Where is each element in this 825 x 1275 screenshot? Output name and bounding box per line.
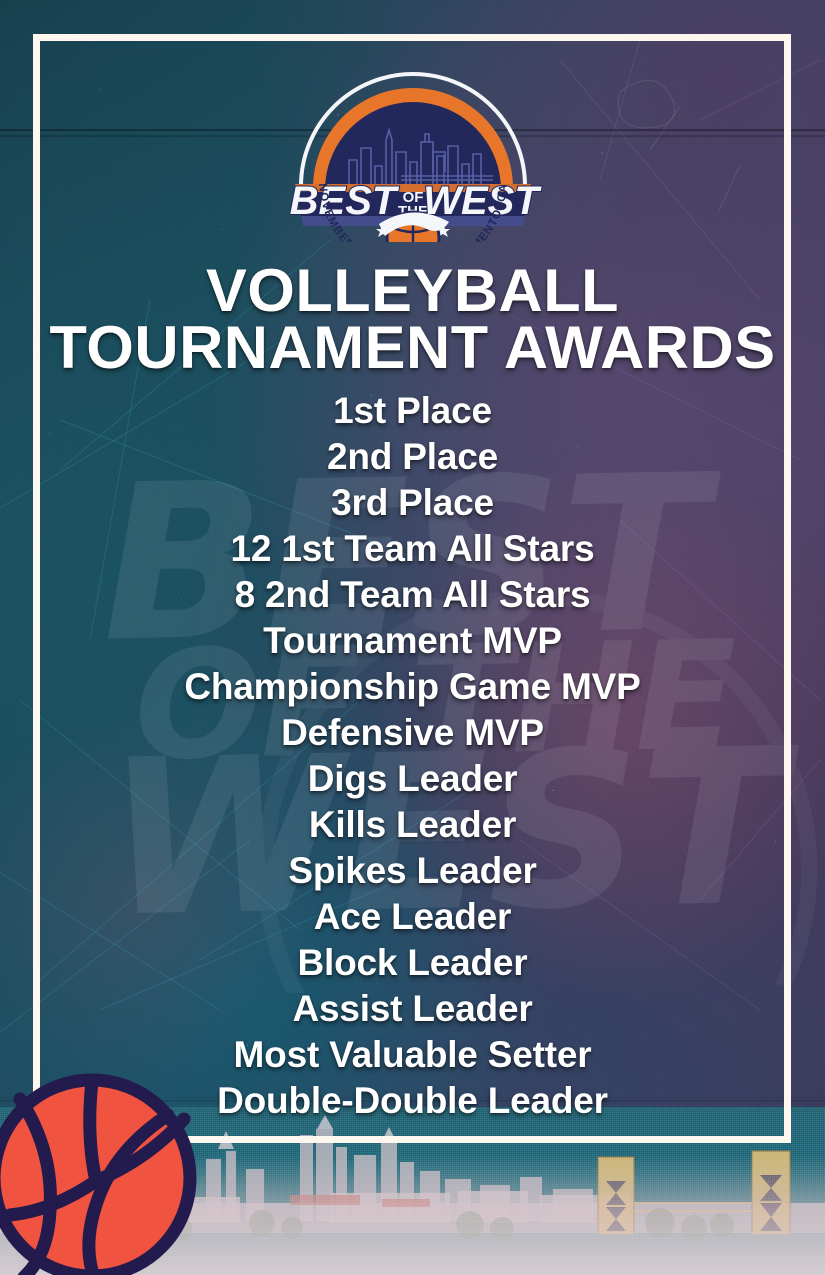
poster-root: BEST OF THE WEST	[0, 0, 825, 1275]
awards-list: 1st Place 2nd Place 3rd Place 12 1st Tea…	[0, 388, 825, 1124]
award-item: 12 1st Team All Stars	[0, 526, 825, 572]
award-item: Defensive MVP	[0, 710, 825, 756]
poster-title: VOLLEYBALL TOURNAMENT AWARDS	[0, 262, 825, 376]
logo-word-best: BEST	[289, 179, 399, 223]
award-item: Tournament MVP	[0, 618, 825, 664]
title-line-2: TOURNAMENT AWARDS	[0, 319, 825, 376]
award-item: 8 2nd Team All Stars	[0, 572, 825, 618]
award-item: Assist Leader	[0, 986, 825, 1032]
award-item: Kills Leader	[0, 802, 825, 848]
award-item: 3rd Place	[0, 480, 825, 526]
award-item: Most Valuable Setter	[0, 1032, 825, 1078]
award-item: Digs Leader	[0, 756, 825, 802]
award-item: Ace Leader	[0, 894, 825, 940]
award-item: Spikes Leader	[0, 848, 825, 894]
award-item: 2nd Place	[0, 434, 825, 480]
award-item: Championship Game MVP	[0, 664, 825, 710]
award-item: 1st Place	[0, 388, 825, 434]
logo-word-west: WEST	[423, 179, 542, 223]
volleyball-icon	[0, 1073, 210, 1275]
award-item: Block Leader	[0, 940, 825, 986]
title-line-1: VOLLEYBALL	[0, 262, 825, 319]
best-of-the-west-logo: BEST OF THE WEST	[283, 56, 543, 242]
